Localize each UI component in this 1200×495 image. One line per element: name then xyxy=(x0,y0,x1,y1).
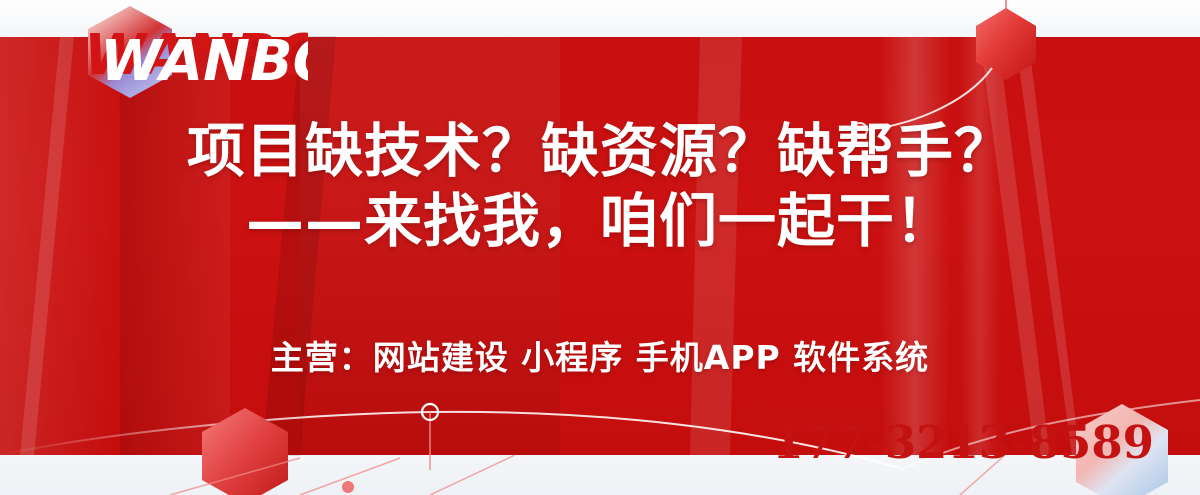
services-subtitle: 主营：网站建设 小程序 手机APP 软件系统 xyxy=(0,336,1200,380)
promotional-banner: WANBO WANBO 项目缺技术？缺资源？缺帮手？ ——来找我，咱们一起干！ … xyxy=(0,0,1200,495)
brand-logo[interactable]: WANBO WANBO xyxy=(82,4,292,99)
dot-marker-icon xyxy=(342,481,354,493)
headline: 项目缺技术？缺资源？缺帮手？ ——来找我，咱们一起干！ xyxy=(0,116,1200,256)
logo-wordmark-text: WANBO xyxy=(100,29,308,92)
contact-phone-number[interactable]: 177-3213-8589 xyxy=(772,417,1154,469)
logo-wordmark: WANBO WANBO xyxy=(78,12,308,92)
headline-line-1: 项目缺技术？缺资源？缺帮手？ xyxy=(0,116,1200,186)
headline-line-2: ——来找我，咱们一起干！ xyxy=(0,186,1200,256)
arc-line xyxy=(0,412,900,468)
